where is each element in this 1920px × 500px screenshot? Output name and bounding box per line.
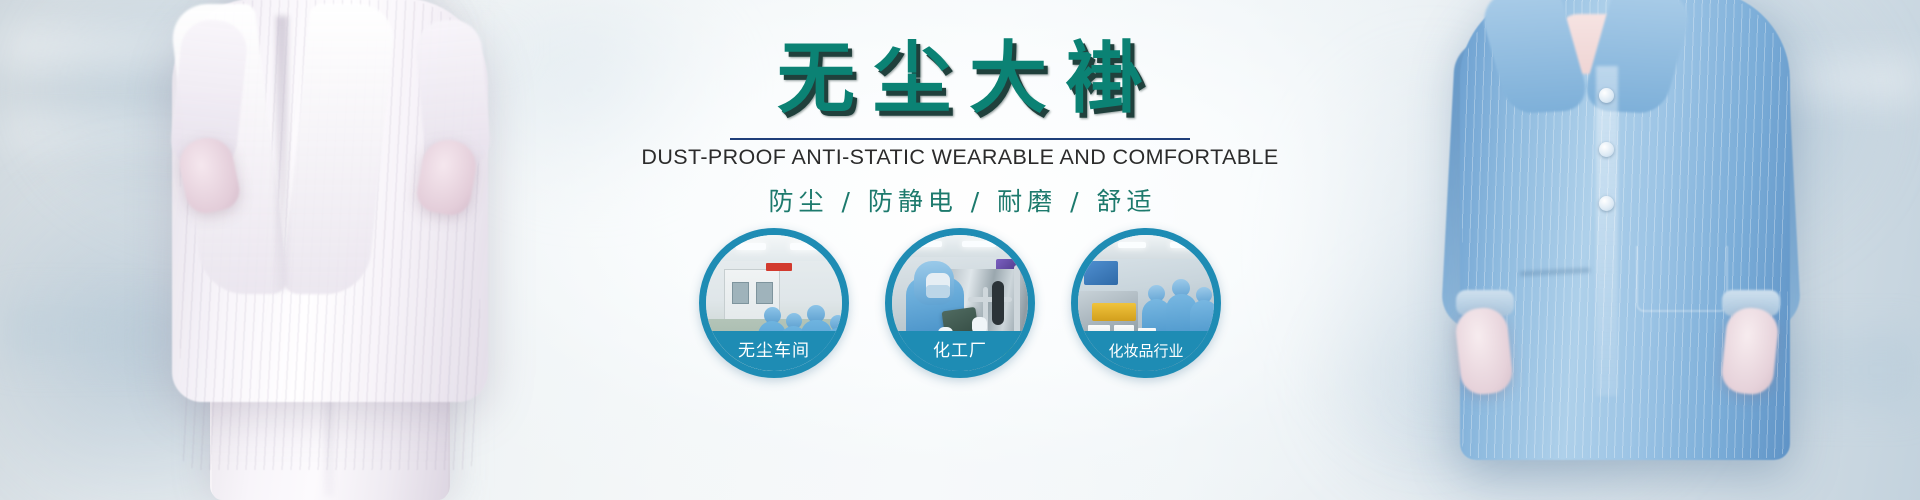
industry-badge-cleanroom[interactable]: 无尘车间 [699, 228, 849, 378]
badge-label: 化工厂 [892, 331, 1028, 371]
title-divider-rule [730, 138, 1190, 140]
badge-label: 无尘车间 [706, 331, 842, 371]
subtitle-english: DUST-PROOF ANTI-STATIC WEARABLE AND COMF… [0, 145, 1920, 170]
industry-badge-chemical-plant[interactable]: 化工厂 [885, 228, 1035, 378]
page-title: 无尘大褂 [0, 40, 1920, 118]
industry-badge-cosmetics[interactable]: 化妆品行业 [1071, 228, 1221, 378]
product-hero-banner: 无尘大褂 DUST-PROOF ANTI-STATIC WEARABLE AND… [0, 0, 1920, 500]
subtitle-chinese-features: 防尘 / 防静电 / 耐磨 / 舒适 [0, 182, 1920, 218]
banner-center-content: 无尘大褂 DUST-PROOF ANTI-STATIC WEARABLE AND… [0, 0, 1920, 500]
industry-badge-group: 无尘车间 [699, 228, 1221, 378]
badge-label: 化妆品行业 [1078, 331, 1214, 371]
